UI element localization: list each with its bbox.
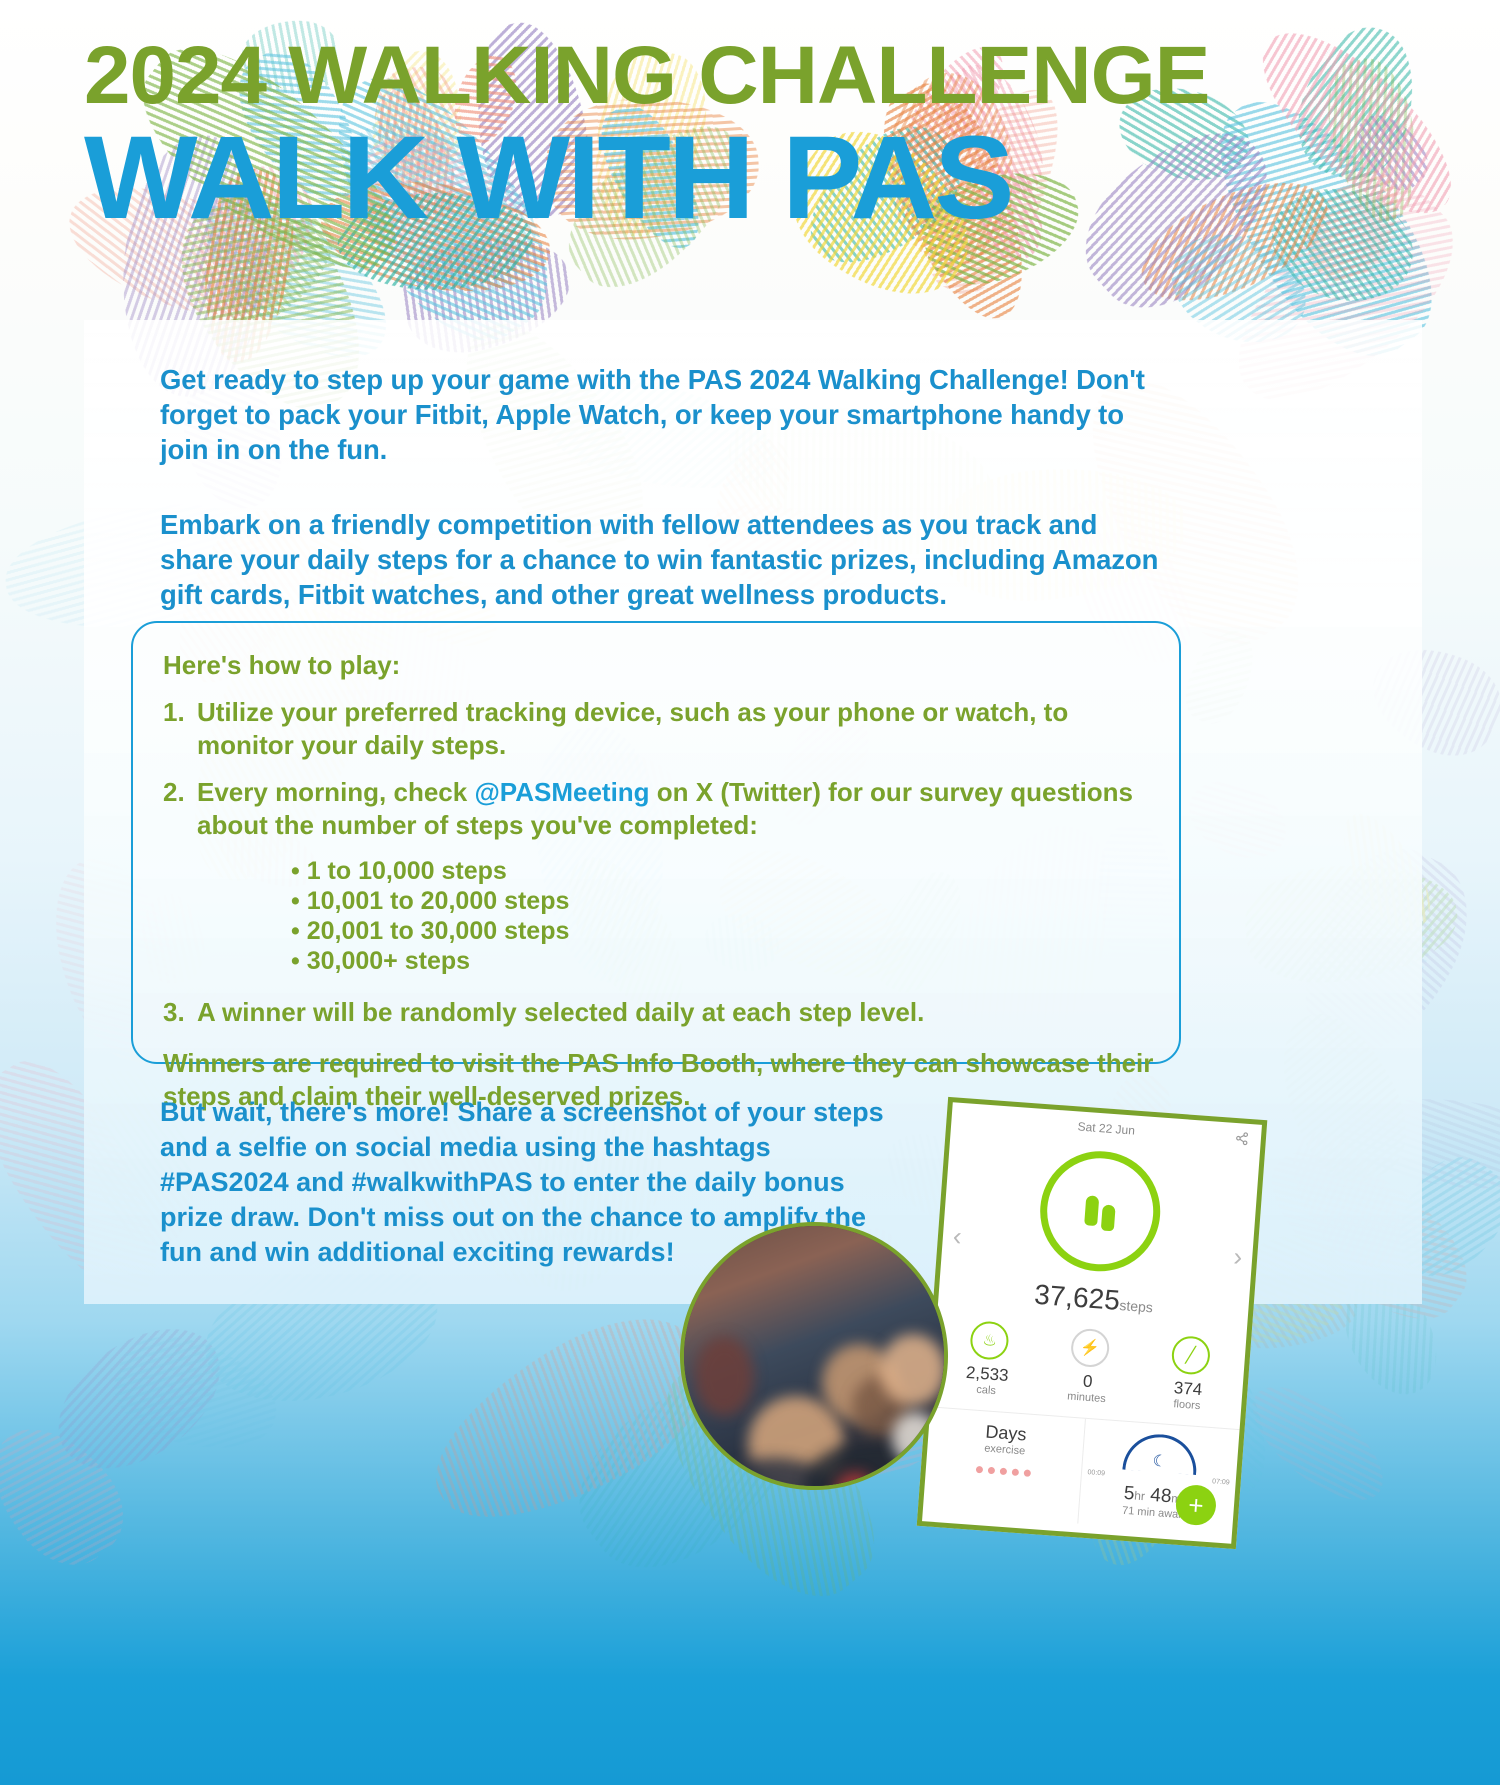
how-to-play-heading: Here's how to play: [163, 649, 1163, 682]
rule-number-3: 3. [163, 996, 185, 1029]
rule-item-1: 1. Utilize your preferred tracking devic… [163, 696, 1163, 762]
sleep-minutes: 48 [1150, 1485, 1173, 1507]
selfie-image [684, 1226, 944, 1486]
rule-text-1: Utilize your preferred tracking device, … [197, 697, 1068, 760]
rule-item-2: 2. Every morning, check @PASMeeting on X… [163, 776, 1163, 842]
rule-text-3: A winner will be randomly selected daily… [197, 997, 924, 1027]
exercise-tile[interactable]: Days exercise [923, 1407, 1086, 1523]
rule-text-2-before: Every morning, check [197, 777, 474, 807]
sleep-start-time: 00:09 [1087, 1469, 1105, 1477]
attendee-selfie-photo [680, 1222, 948, 1490]
next-day-chevron-icon[interactable]: › [1232, 1241, 1243, 1273]
sleep-tile[interactable]: ☾ 00:09 07:09 5hr 48min 71 min awake [1078, 1419, 1240, 1535]
steps-progress-ring [1036, 1147, 1164, 1275]
exercise-day-dots [932, 1463, 1075, 1480]
pasmeeting-handle-link[interactable]: @PASMeeting [474, 777, 649, 807]
rule-number-1: 1. [163, 696, 185, 729]
fitbit-app-screenshot: Sat 22 Jun ‹ › 37,625steps ♨ 2,533 cals … [917, 1097, 1268, 1549]
page-title-subline: 2024 WALKING CHALLENGE [84, 34, 1451, 118]
share-icon[interactable] [1234, 1131, 1249, 1146]
moon-icon: ☾ [1152, 1451, 1168, 1472]
step-level-item: 20,001 to 30,000 steps [291, 916, 1163, 946]
sleep-end-time: 07:09 [1212, 1478, 1230, 1486]
stat-floors[interactable]: ╱ 374 floors [1151, 1334, 1228, 1414]
stairs-icon: ╱ [1170, 1335, 1211, 1376]
how-to-play-box: Here's how to play: 1. Utilize your pref… [131, 621, 1181, 1064]
flame-icon: ♨ [969, 1320, 1010, 1361]
steps-unit: steps [1119, 1297, 1154, 1315]
footprint-icon [1043, 1155, 1156, 1268]
step-level-item: 10,001 to 20,000 steps [291, 886, 1163, 916]
rule-item-3: 3. A winner will be randomly selected da… [163, 996, 1163, 1029]
rule-number-2: 2. [163, 776, 185, 809]
fitbit-stats-row: ♨ 2,533 cals ⚡ 0 minutes ╱ 374 floors [931, 1318, 1246, 1416]
stat-active-minutes[interactable]: ⚡ 0 minutes [1050, 1326, 1127, 1406]
previous-day-chevron-icon[interactable]: ‹ [952, 1221, 963, 1253]
poster-headline: 2024 WALKING CHALLENGE WALK WITH PAS [84, 34, 1424, 236]
lightning-icon: ⚡ [1070, 1328, 1111, 1369]
sleep-hours-unit: hr [1134, 1489, 1146, 1504]
step-levels-list: 1 to 10,000 steps 10,001 to 20,000 steps… [291, 856, 1163, 976]
step-level-item: 1 to 10,000 steps [291, 856, 1163, 886]
step-level-item: 30,000+ steps [291, 946, 1163, 976]
steps-value: 37,625 [1033, 1279, 1121, 1316]
sleep-arc-gauge: ☾ [1122, 1432, 1199, 1475]
fitbit-date-label: Sat 22 Jun [951, 1110, 1261, 1147]
steps-count: 37,625steps [938, 1272, 1250, 1327]
intro-paragraph-1: Get ready to step up your game with the … [160, 362, 1170, 467]
intro-copy: Get ready to step up your game with the … [160, 362, 1170, 612]
stat-calories[interactable]: ♨ 2,533 cals [950, 1319, 1027, 1399]
intro-paragraph-2: Embark on a friendly competition with fe… [160, 507, 1170, 612]
rules-list: 1. Utilize your preferred tracking devic… [163, 696, 1163, 842]
page-title: WALK WITH PAS [84, 120, 1451, 236]
